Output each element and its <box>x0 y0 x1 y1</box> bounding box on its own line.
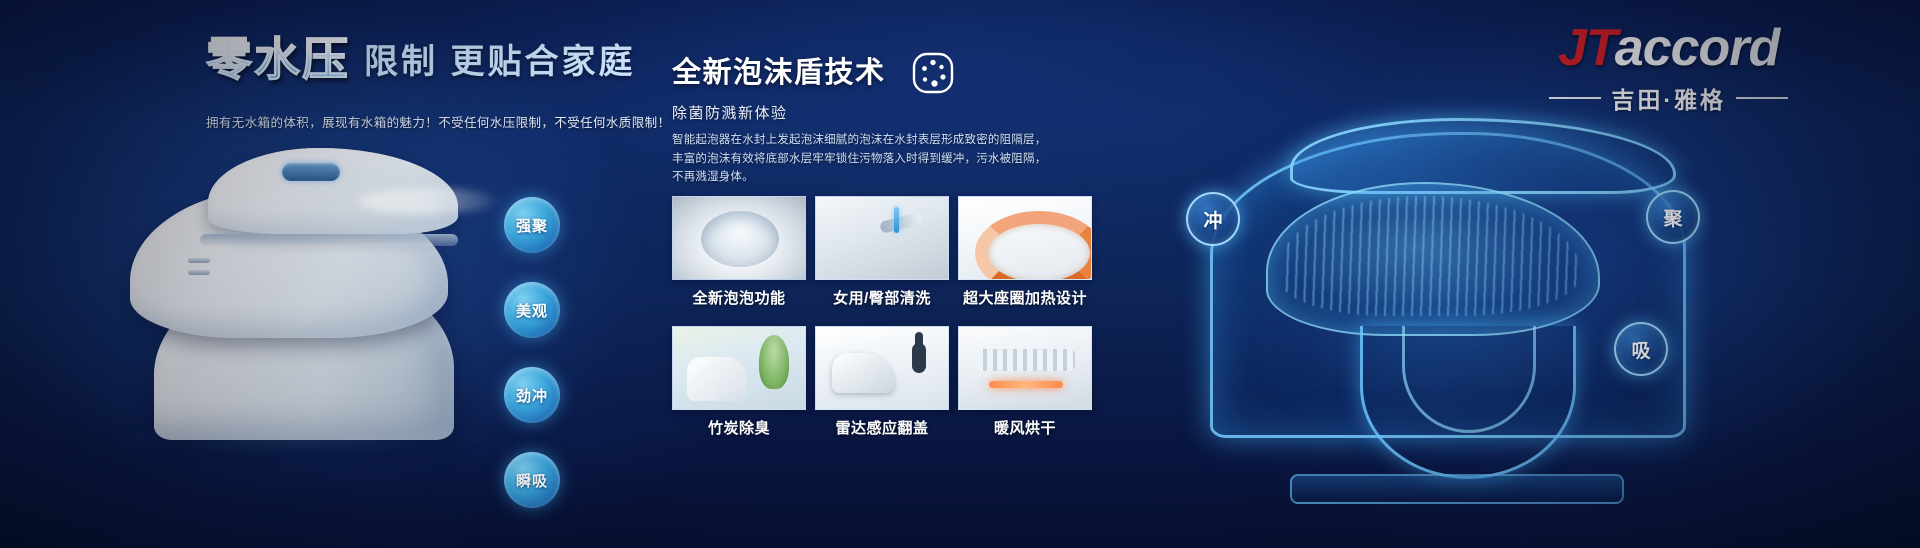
toilet-lid <box>208 148 458 234</box>
toilet-illustration <box>96 130 496 460</box>
feature-card[interactable]: 竹炭除臭 <box>672 326 806 450</box>
feature-card[interactable]: 女用/臀部清洗 <box>815 196 949 320</box>
xray-lid <box>1290 118 1676 194</box>
feature-caption: 暖风烘干 <box>958 410 1092 450</box>
feature-card[interactable]: 暖风烘干 <box>958 326 1092 450</box>
feature-pill-label: 劲冲 <box>516 385 548 406</box>
side-button-icon <box>188 270 210 275</box>
feature-pill-label: 美观 <box>516 300 548 321</box>
radar-sensor-lid-thumbnail <box>815 326 949 410</box>
middle-title: 全新泡沫盾技术 <box>672 59 886 88</box>
gather-badge[interactable]: 聚 <box>1646 190 1700 244</box>
brand-logo[interactable]: JTaccord 吉田·雅格 <box>1549 22 1788 115</box>
nozzle-wash-thumbnail <box>815 196 949 280</box>
logo-chinese-row: 吉田·雅格 <box>1549 81 1788 115</box>
flush-badge[interactable]: 冲 <box>1186 192 1240 246</box>
promo-banner: 零水压 限制 更贴合家庭 拥有无水箱的体积，展现有水箱的魅力！不受任何水压限制，… <box>0 0 1920 548</box>
headline-main-text: 零水压 <box>206 36 350 82</box>
middle-header: 全新泡沫盾技术 <box>672 50 956 96</box>
logo-rule-right <box>1736 97 1788 99</box>
feature-caption: 全新泡泡功能 <box>672 280 806 320</box>
paragraph-line: 智能起泡器在水封上发起泡沫细腻的泡沫在水封表层形成致密的阻隔层， <box>672 131 1092 150</box>
feature-caption: 雷达感应翻盖 <box>815 410 949 450</box>
toilet-seam <box>200 234 458 246</box>
right-section: JTaccord 吉田·雅格 冲 聚 吸 <box>1130 0 1920 548</box>
left-headline: 零水压 限制 更贴合家庭 <box>206 36 635 82</box>
left-section: 零水压 限制 更贴合家庭 拥有无水箱的体积，展现有水箱的魅力！不受任何水压限制，… <box>0 0 640 548</box>
logo-rule-left <box>1549 97 1601 99</box>
middle-subtitle: 除菌防溅新体验 <box>672 102 788 123</box>
warm-air-dryer-thumbnail <box>958 326 1092 410</box>
feature-grid-row: 竹炭除臭 雷达感应翻盖 暖风烘干 <box>672 326 1092 450</box>
flush-badge-label: 冲 <box>1203 206 1222 233</box>
paragraph-line: 不再溅湿身体。 <box>672 168 1092 187</box>
feature-caption: 超大座圈加热设计 <box>958 280 1092 320</box>
logo-accord-text: accord <box>1615 19 1780 77</box>
feature-pill[interactable]: 劲冲 <box>504 367 560 423</box>
feature-pill-list: 强聚 美观 劲冲 瞬吸 <box>504 197 564 537</box>
logo-chinese-text: 吉田·雅格 <box>1611 81 1726 115</box>
feature-caption: 女用/臀部清洗 <box>815 280 949 320</box>
feature-card[interactable]: 雷达感应翻盖 <box>815 326 949 450</box>
logo-jt-text: JT <box>1558 19 1615 77</box>
feature-card[interactable]: 超大座圈加热设计 <box>958 196 1092 320</box>
middle-paragraph: 智能起泡器在水封上发起泡沫细腻的泡沫在水封表层形成致密的阻隔层， 丰富的泡沫有效… <box>672 131 1092 187</box>
lid-highlight <box>358 188 498 214</box>
headline-sub-text: 限制 更贴合家庭 <box>364 45 635 82</box>
feature-pill[interactable]: 美观 <box>504 282 560 338</box>
paragraph-line: 丰富的泡沫有效将底部水层牢牢锁住污物落入时得到缓冲，污水被阻隔， <box>672 150 1092 169</box>
gather-badge-label: 聚 <box>1663 204 1682 231</box>
xray-toilet-illustration: 冲 聚 吸 <box>1170 112 1730 532</box>
feature-pill-label: 瞬吸 <box>516 470 548 491</box>
feature-caption: 竹炭除臭 <box>672 410 806 450</box>
heated-seat-ring-thumbnail <box>958 196 1092 280</box>
foam-bubble-icon <box>910 50 956 96</box>
feature-pill[interactable]: 强聚 <box>504 197 560 253</box>
left-description: 拥有无水箱的体积，展现有水箱的魅力！不受任何水压限制，不受任何水质限制！ <box>206 112 626 131</box>
control-panel-icon <box>282 163 340 181</box>
suction-badge-label: 吸 <box>1631 336 1650 363</box>
feature-card[interactable]: 全新泡泡功能 <box>672 196 806 320</box>
feature-pill-label: 强聚 <box>516 215 548 236</box>
feature-grid-row: 全新泡泡功能 女用/臀部清洗 超大座圈加热设计 <box>672 196 1092 320</box>
suction-badge[interactable]: 吸 <box>1614 322 1668 376</box>
bamboo-charcoal-thumbnail <box>672 326 806 410</box>
bowl-foam-thumbnail <box>672 196 806 280</box>
xray-base-foot <box>1290 474 1624 504</box>
feature-grid: 全新泡泡功能 女用/臀部清洗 超大座圈加热设计 竹炭除臭 雷 <box>672 196 1092 456</box>
logo-wordmark: JTaccord <box>1549 22 1788 74</box>
feature-pill[interactable]: 瞬吸 <box>504 452 560 508</box>
side-button-icon <box>188 258 210 263</box>
